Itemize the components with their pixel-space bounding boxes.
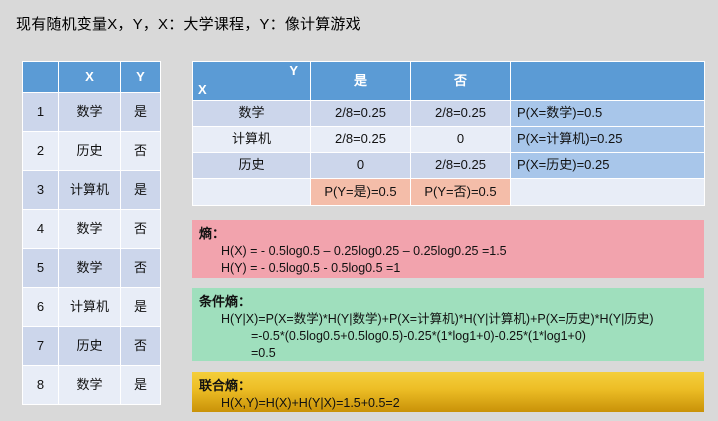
cell-y: 否 bbox=[121, 249, 161, 288]
cell-x: 历史 bbox=[59, 327, 121, 366]
cell-index: 4 bbox=[23, 210, 59, 249]
cell-index: 7 bbox=[23, 327, 59, 366]
conditional-entropy-formula-line2: =-0.5*(0.5log0.5+0.5log0.5)-0.25*(1*log1… bbox=[251, 328, 704, 345]
cell-marginal-x: P(X=历史)=0.25 bbox=[511, 153, 705, 179]
cell-x: 数学 bbox=[59, 249, 121, 288]
cell-y: 否 bbox=[121, 327, 161, 366]
column-header-index bbox=[23, 62, 59, 93]
joint-table-row: 计算机 2/8=0.25 0 P(X=计算机)=0.25 bbox=[193, 127, 705, 153]
cell-joint-yes: 0 bbox=[311, 153, 411, 179]
footer-label bbox=[193, 179, 311, 206]
column-header-no: 否 bbox=[411, 62, 511, 101]
joint-entropy-box-title: 联合熵： bbox=[199, 377, 704, 395]
cell-index: 8 bbox=[23, 366, 59, 405]
table-row: 4 数学 否 bbox=[23, 210, 161, 249]
column-header-yes: 是 bbox=[311, 62, 411, 101]
column-header-marginal bbox=[511, 62, 705, 101]
joint-table-row: 历史 0 2/8=0.25 P(X=历史)=0.25 bbox=[193, 153, 705, 179]
sample-data-table: X Y 1 数学 是 2 历史 否 3 计算机 是 4 数学 否 5 数学 否 bbox=[22, 61, 161, 405]
table-row: 5 数学 否 bbox=[23, 249, 161, 288]
cell-y: 否 bbox=[121, 210, 161, 249]
joint-probability-table: Y X 是 否 数学 2/8=0.25 2/8=0.25 P(X=数学)=0.5… bbox=[192, 61, 705, 206]
table-row: 1 数学 是 bbox=[23, 93, 161, 132]
table-row: 3 计算机 是 bbox=[23, 171, 161, 210]
cell-joint-no: 2/8=0.25 bbox=[411, 153, 511, 179]
joint-table-row: 数学 2/8=0.25 2/8=0.25 P(X=数学)=0.5 bbox=[193, 101, 705, 127]
cell-marginal-x: P(X=计算机)=0.25 bbox=[511, 127, 705, 153]
conditional-entropy-box: 条件熵： H(Y|X)=P(X=数学)*H(Y|数学)+P(X=计算机)*H(Y… bbox=[192, 288, 704, 361]
cell-y: 是 bbox=[121, 171, 161, 210]
cell-joint-no: 0 bbox=[411, 127, 511, 153]
footer-blank-cell bbox=[511, 179, 705, 206]
cell-index: 2 bbox=[23, 132, 59, 171]
joint-header-row: Y X 是 否 bbox=[193, 62, 705, 101]
cell-index: 1 bbox=[23, 93, 59, 132]
entropy-formula-hx: H(X) = - 0.5log0.5 – 0.25log0.25 – 0.25l… bbox=[221, 243, 704, 260]
cell-x: 计算机 bbox=[59, 171, 121, 210]
corner-row-variable: X bbox=[198, 83, 207, 98]
entropy-box-title: 熵： bbox=[199, 225, 704, 243]
cell-joint-yes: 2/8=0.25 bbox=[311, 127, 411, 153]
cell-marginal-y-no: P(Y=否)=0.5 bbox=[411, 179, 511, 206]
cell-index: 6 bbox=[23, 288, 59, 327]
cell-x: 计算机 bbox=[59, 288, 121, 327]
table-row: 8 数学 是 bbox=[23, 366, 161, 405]
entropy-box: 熵： H(X) = - 0.5log0.5 – 0.25log0.25 – 0.… bbox=[192, 220, 704, 278]
cell-y: 否 bbox=[121, 132, 161, 171]
joint-entropy-box: 联合熵： H(X,Y)=H(X)+H(Y|X)=1.5+0.5=2 bbox=[192, 372, 704, 412]
row-label: 计算机 bbox=[193, 127, 311, 153]
cell-marginal-y-yes: P(Y=是)=0.5 bbox=[311, 179, 411, 206]
joint-entropy-formula: H(X,Y)=H(X)+H(Y|X)=1.5+0.5=2 bbox=[221, 395, 704, 412]
cell-x: 数学 bbox=[59, 366, 121, 405]
row-label: 数学 bbox=[193, 101, 311, 127]
entropy-formula-hy: H(Y) = - 0.5log0.5 - 0.5log0.5 =1 bbox=[221, 260, 704, 277]
cell-marginal-x: P(X=数学)=0.5 bbox=[511, 101, 705, 127]
conditional-entropy-formula-line3: =0.5 bbox=[251, 345, 704, 362]
page-title: 现有随机变量X，Y，X：大学课程，Y：像计算游戏 bbox=[16, 13, 361, 34]
cell-y: 是 bbox=[121, 93, 161, 132]
cell-x: 数学 bbox=[59, 210, 121, 249]
cell-joint-yes: 2/8=0.25 bbox=[311, 101, 411, 127]
table-row: 7 历史 否 bbox=[23, 327, 161, 366]
cell-index: 5 bbox=[23, 249, 59, 288]
cell-index: 3 bbox=[23, 171, 59, 210]
table-header-row: X Y bbox=[23, 62, 161, 93]
corner-col-variable: Y bbox=[289, 64, 298, 79]
conditional-entropy-formula-line1: H(Y|X)=P(X=数学)*H(Y|数学)+P(X=计算机)*H(Y|计算机)… bbox=[221, 311, 704, 328]
table-row: 6 计算机 是 bbox=[23, 288, 161, 327]
conditional-entropy-box-title: 条件熵： bbox=[199, 293, 704, 311]
corner-header-cell: Y X bbox=[193, 62, 311, 101]
cell-x: 数学 bbox=[59, 93, 121, 132]
table-row: 2 历史 否 bbox=[23, 132, 161, 171]
cell-y: 是 bbox=[121, 288, 161, 327]
cell-y: 是 bbox=[121, 366, 161, 405]
cell-x: 历史 bbox=[59, 132, 121, 171]
column-header-x: X bbox=[59, 62, 121, 93]
cell-joint-no: 2/8=0.25 bbox=[411, 101, 511, 127]
column-header-y: Y bbox=[121, 62, 161, 93]
row-label: 历史 bbox=[193, 153, 311, 179]
joint-table-footer-row: P(Y=是)=0.5 P(Y=否)=0.5 bbox=[193, 179, 705, 206]
